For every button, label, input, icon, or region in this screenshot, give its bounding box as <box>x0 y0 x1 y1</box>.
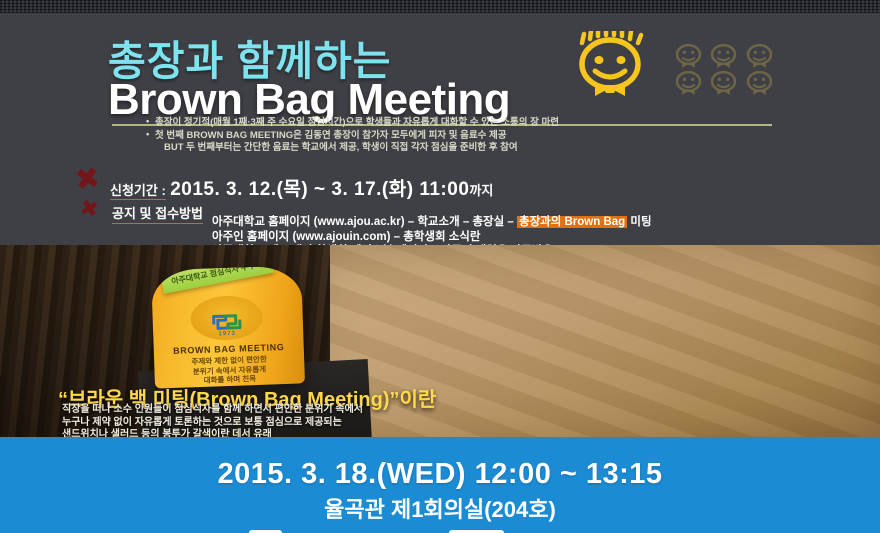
explanation-line: 누구나 제약 없이 자유롭게 토론하는 것으로 보통 점심으로 제공되는 <box>62 417 363 430</box>
top-texture-strip <box>0 0 880 13</box>
notice-highlight: 총장과의 Brown Bag <box>517 216 627 228</box>
application-period-line: 신청기간 : 2015. 3. 12.(목) ~ 3. 17.(화) 11:00… <box>110 174 493 201</box>
event-date: 2015. 3. 18.(WED) 12:00 ~ 13:15 <box>0 458 880 491</box>
smiling-mascot-icon <box>565 31 661 103</box>
application-period-suffix: 까지 <box>469 183 493 198</box>
bullet-subline: BUT 두 번째부터는 간단한 음료는 학교에서 제공, 학생이 직접 각자 점… <box>146 142 846 155</box>
explanation-line: 직장을 떠나 소수 인원들이 점심식사를 함께 하면서 편안한 분위기 속에서 <box>62 404 363 417</box>
mascot-group-icon <box>672 43 776 95</box>
bag-seal: 1973 <box>190 295 263 341</box>
notice-line: 아주대학교 홈페이지 (www.ajou.ac.kr) – 학교소개 – 총장실… <box>212 215 652 230</box>
red-x-mark-icon: ✖ <box>73 163 102 196</box>
poster-root: 총장과 함께하는 Brown Bag Meeting <box>0 0 880 533</box>
brown-bag-graphic: 1973 BROWN BAG MEETING 주제와 제한 없이 편안한 분위기… <box>151 265 305 388</box>
header-bullet-list: 총장이 정기적(매월 1째·3째 주 수요일 점심시간)으로 학생들과 자유롭게… <box>146 117 846 155</box>
application-period-label: 신청기간 : <box>110 183 166 200</box>
application-period-value: 2015. 3. 12.(목) ~ 3. 17.(화) 11:00 <box>170 179 469 200</box>
bullet-item: 첫 번째 BROWN BAG MEETING은 김동연 총장이 참가자 모두에게… <box>146 130 846 143</box>
notice-line-pre: 아주대학교 홈페이지 (www.ajou.ac.kr) – 학교소개 – 총장실… <box>212 216 517 228</box>
event-location: 율곡관 제1회의실(204호) <box>0 492 880 524</box>
red-x-mark-icon: ✖ <box>78 196 101 221</box>
brown-paper-background <box>296 245 880 445</box>
poster-header: 총장과 함께하는 Brown Bag Meeting <box>0 13 880 245</box>
logo-year: 1973 <box>191 330 263 339</box>
bullet-item: 총장이 정기적(매월 1째·3째 주 수요일 점심시간)으로 학생들과 자유롭게… <box>146 117 846 130</box>
notice-line-post: 미팅 <box>627 216 651 228</box>
event-meta: 대상아주대학교 학부생 누구나참가인원선착순 신청 재학생 20명 <box>0 529 880 533</box>
poster-footer: 2015. 3. 18.(WED) 12:00 ~ 13:15 율곡관 제1회의… <box>0 448 880 533</box>
notice-method-label: 공지 및 접수방법 <box>112 203 203 224</box>
explanation-body: 직장을 떠나 소수 인원들이 점심식사를 함께 하면서 편안한 분위기 속에서 … <box>62 404 363 442</box>
notice-line: 아주인 홈페이지 (www.ajouin.com) – 총학생회 소식란 <box>212 230 652 245</box>
